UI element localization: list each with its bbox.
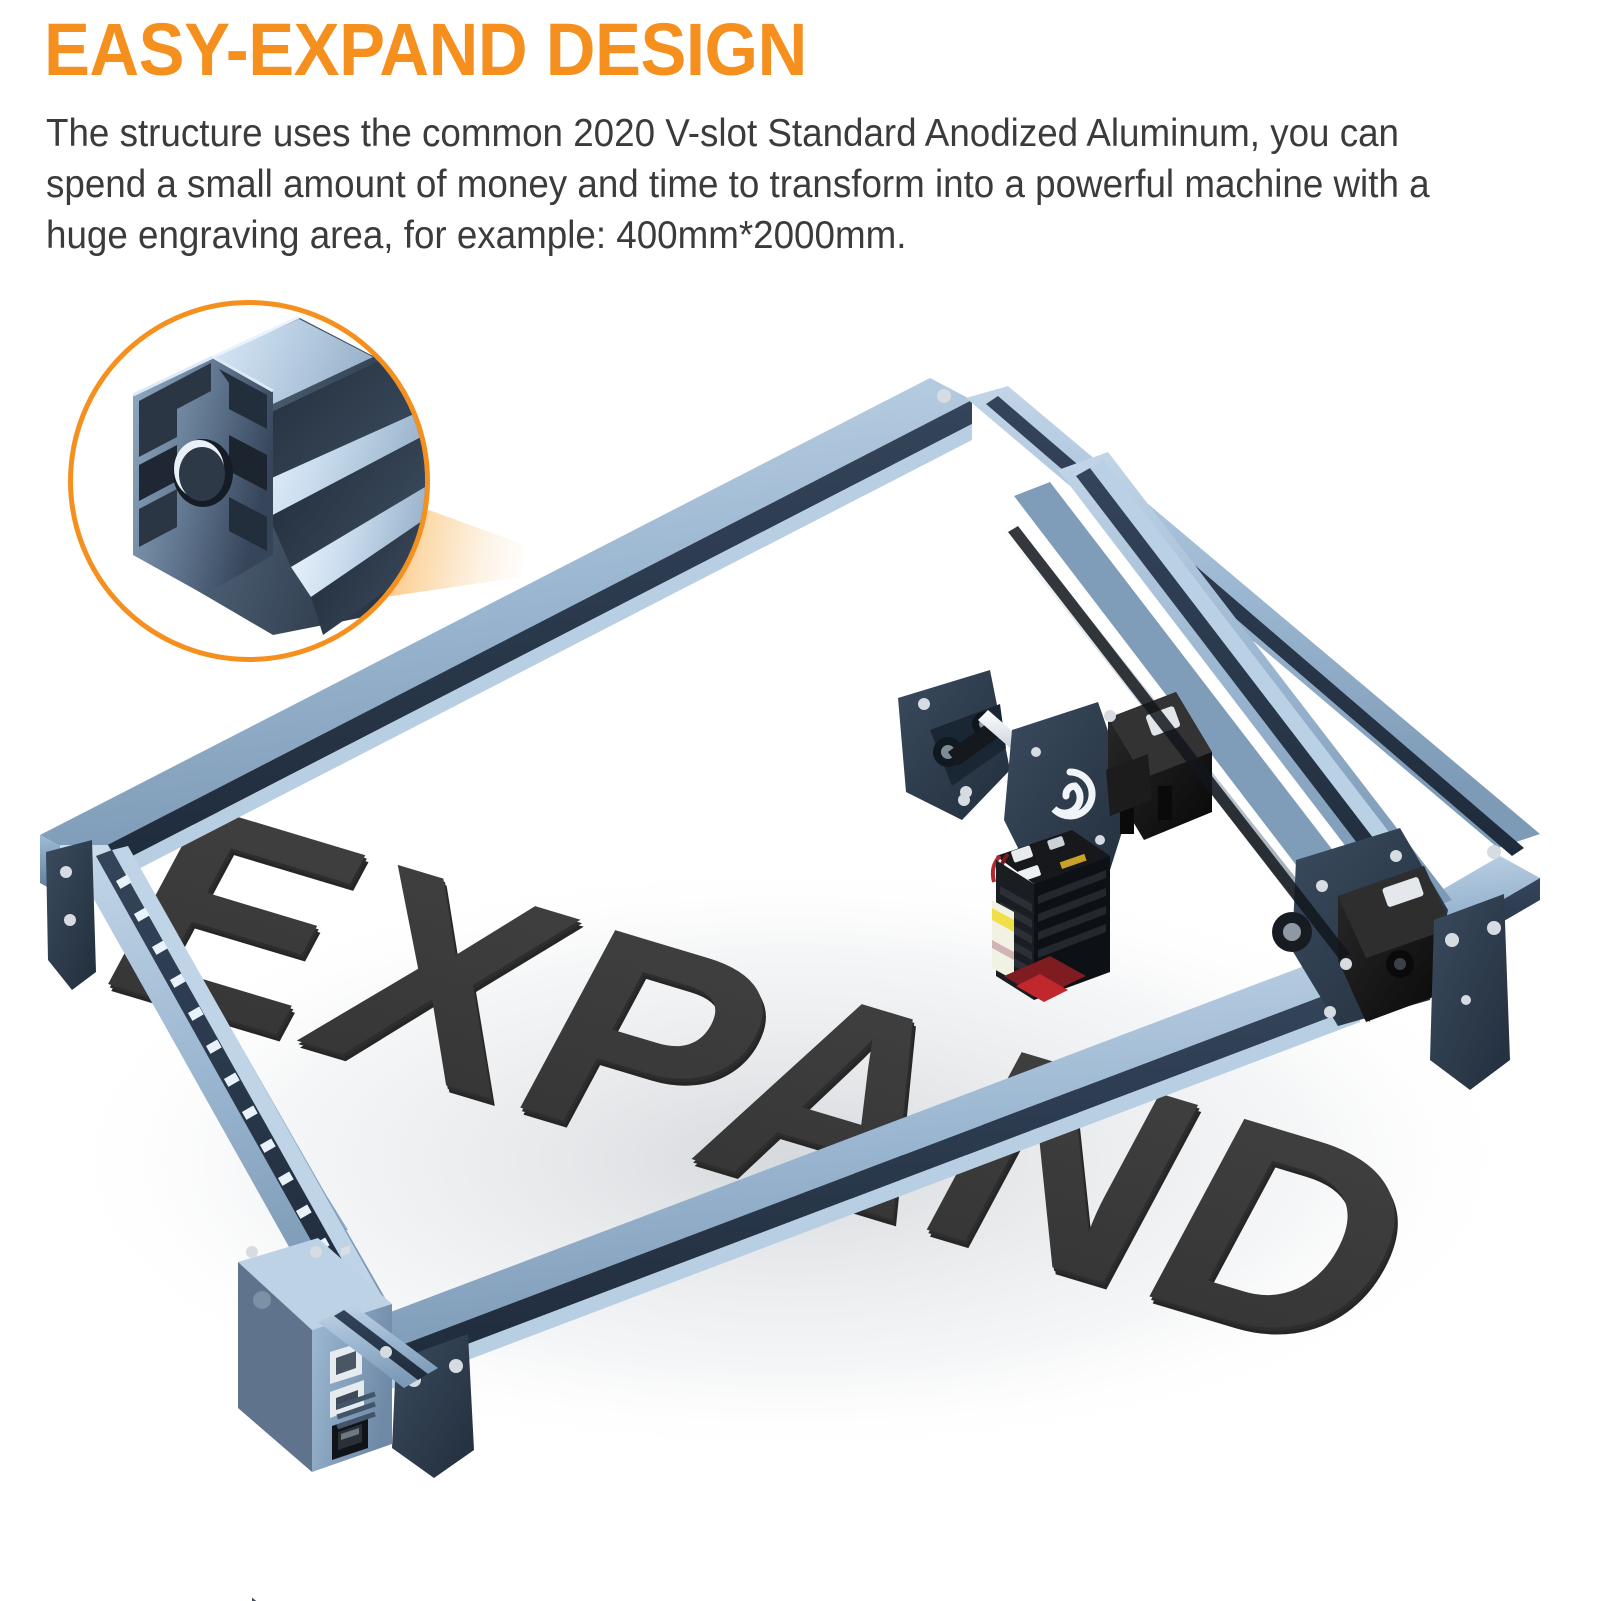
corner-foot-bracket-left (46, 840, 96, 990)
brand-mark (253, 1291, 271, 1309)
control-box[interactable] (238, 1238, 392, 1601)
page-description: The structure uses the common 2020 V-slo… (46, 108, 1469, 262)
vent-slots (252, 1597, 294, 1601)
rail-back-left (40, 378, 972, 906)
laser-engraver-illustration: EXPAND EXPAND EXPAND (0, 300, 1601, 1601)
page-title: EASY-EXPAND DESIGN (44, 14, 807, 87)
laser-module (992, 830, 1110, 1002)
corner-foot-bracket-right (1430, 894, 1510, 1090)
